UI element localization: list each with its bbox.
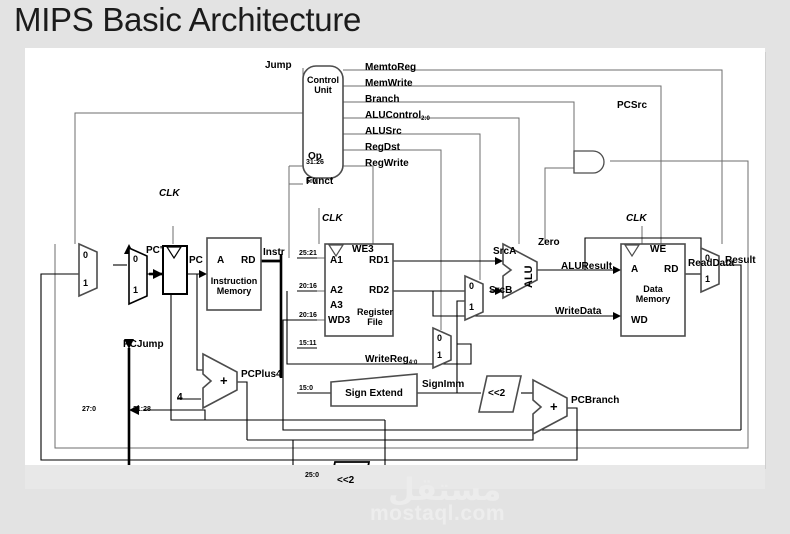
signal-regwrite: RegWrite: [365, 159, 409, 169]
slide-header: MIPS Basic Architecture: [0, 0, 790, 48]
signal-instr: Instr: [263, 248, 285, 258]
dmem-port-a: A: [631, 265, 638, 275]
clk-label-datamem: CLK: [626, 214, 647, 224]
imem-port-a: A: [217, 256, 224, 266]
signal-alucontrol: ALUControl2:0: [365, 111, 430, 121]
mux-branch-input-0: 0: [83, 251, 88, 260]
mips-datapath-diagram: ControlUnit Op Funct MemtoReg MemWrite B…: [25, 48, 765, 465]
mux-result-input-0: 0: [705, 254, 710, 263]
imem-port-rd: RD: [241, 256, 255, 266]
shift-left-2-branch: <<2: [488, 388, 505, 399]
const-four: 4: [177, 393, 183, 403]
dmem-port-we: WE: [650, 245, 666, 255]
control-unit-label: ControlUnit: [304, 75, 342, 96]
register-file-label: RegisterFile: [353, 307, 397, 328]
watermark-latin: mostaql.com: [370, 502, 505, 526]
bits-31-28: 31:28: [133, 406, 151, 413]
signal-zero: Zero: [538, 238, 560, 248]
clk-label-regfile: CLK: [322, 214, 343, 224]
signal-memwrite: MemWrite: [365, 79, 413, 89]
signal-pc: PC: [189, 256, 203, 266]
signal-result: Result: [725, 256, 756, 266]
page-title: MIPS Basic Architecture: [14, 1, 361, 39]
mux-result-input-1: 1: [705, 275, 710, 284]
regfile-port-wd3: WD3: [328, 316, 350, 326]
dmem-port-rd: RD: [664, 265, 678, 275]
signal-branch: Branch: [365, 95, 399, 105]
signal-srcb: SrcB: [489, 286, 512, 296]
signal-regdst: RegDst: [365, 143, 400, 153]
sign-extend-label: Sign Extend: [331, 388, 417, 400]
signal-jump: Jump: [265, 61, 292, 71]
bits-20-16-b: 20:16: [299, 312, 317, 319]
signal-memtoreg: MemtoReg: [365, 63, 416, 73]
signal-writedata: WriteData: [555, 307, 602, 317]
signal-aluresult: ALUResult: [561, 262, 612, 272]
mux-writereg-input-0: 0: [437, 334, 442, 343]
alu-label: ALU: [523, 265, 535, 288]
mux-branch-input-1: 1: [83, 279, 88, 288]
bottom-strip: [25, 465, 765, 489]
signal-srca: SrcA: [493, 247, 516, 257]
signal-alusrc: ALUSrc: [365, 127, 402, 137]
slide-page: MIPS Basic Architecture: [0, 0, 790, 489]
signal-signimm: SignImm: [422, 380, 464, 390]
bits-15-0: 15:0: [299, 385, 313, 392]
bits-31-26: 31:26: [306, 159, 324, 166]
regfile-port-we3: WE3: [352, 245, 374, 255]
bits-15-11: 15:11: [299, 340, 317, 347]
adder-plus-pcbranch: +: [550, 400, 558, 413]
signal-pcjump: PCJump: [123, 340, 164, 350]
mux-jump-input-0: 0: [133, 255, 138, 264]
signal-pcbranch: PCBranch: [571, 396, 619, 406]
mux-writereg-input-1: 1: [437, 351, 442, 360]
signal-pc-prime: PC': [146, 246, 162, 256]
bits-25-0: 25:0: [305, 472, 319, 479]
regfile-port-rd1: RD1: [369, 256, 389, 266]
regfile-port-rd2: RD2: [369, 286, 389, 296]
instruction-memory-label: InstructionMemory: [207, 276, 261, 297]
adder-plus-pcplus4: +: [220, 374, 228, 387]
regfile-port-a3: A3: [330, 301, 343, 311]
data-memory-label: DataMemory: [621, 284, 685, 305]
regfile-port-a1: A1: [330, 256, 343, 266]
signal-pcplus4: PCPlus4: [241, 370, 282, 380]
shift-left-2-jump: <<2: [337, 475, 354, 486]
mux-srcb-input-0: 0: [469, 282, 474, 291]
signal-writereg: WriteReg4:0: [365, 355, 417, 365]
bits-25-21: 25:21: [299, 250, 317, 257]
mux-srcb-input-1: 1: [469, 303, 474, 312]
bits-5-0: 5:0: [306, 178, 316, 185]
bits-20-16-a: 20:16: [299, 283, 317, 290]
clk-label-pc: CLK: [159, 189, 180, 199]
mux-jump-input-1: 1: [133, 286, 138, 295]
regfile-port-a2: A2: [330, 286, 343, 296]
bits-27-0: 27:0: [82, 406, 96, 413]
dmem-port-wd: WD: [631, 316, 648, 326]
signal-pcsrc: PCSrc: [617, 101, 647, 111]
